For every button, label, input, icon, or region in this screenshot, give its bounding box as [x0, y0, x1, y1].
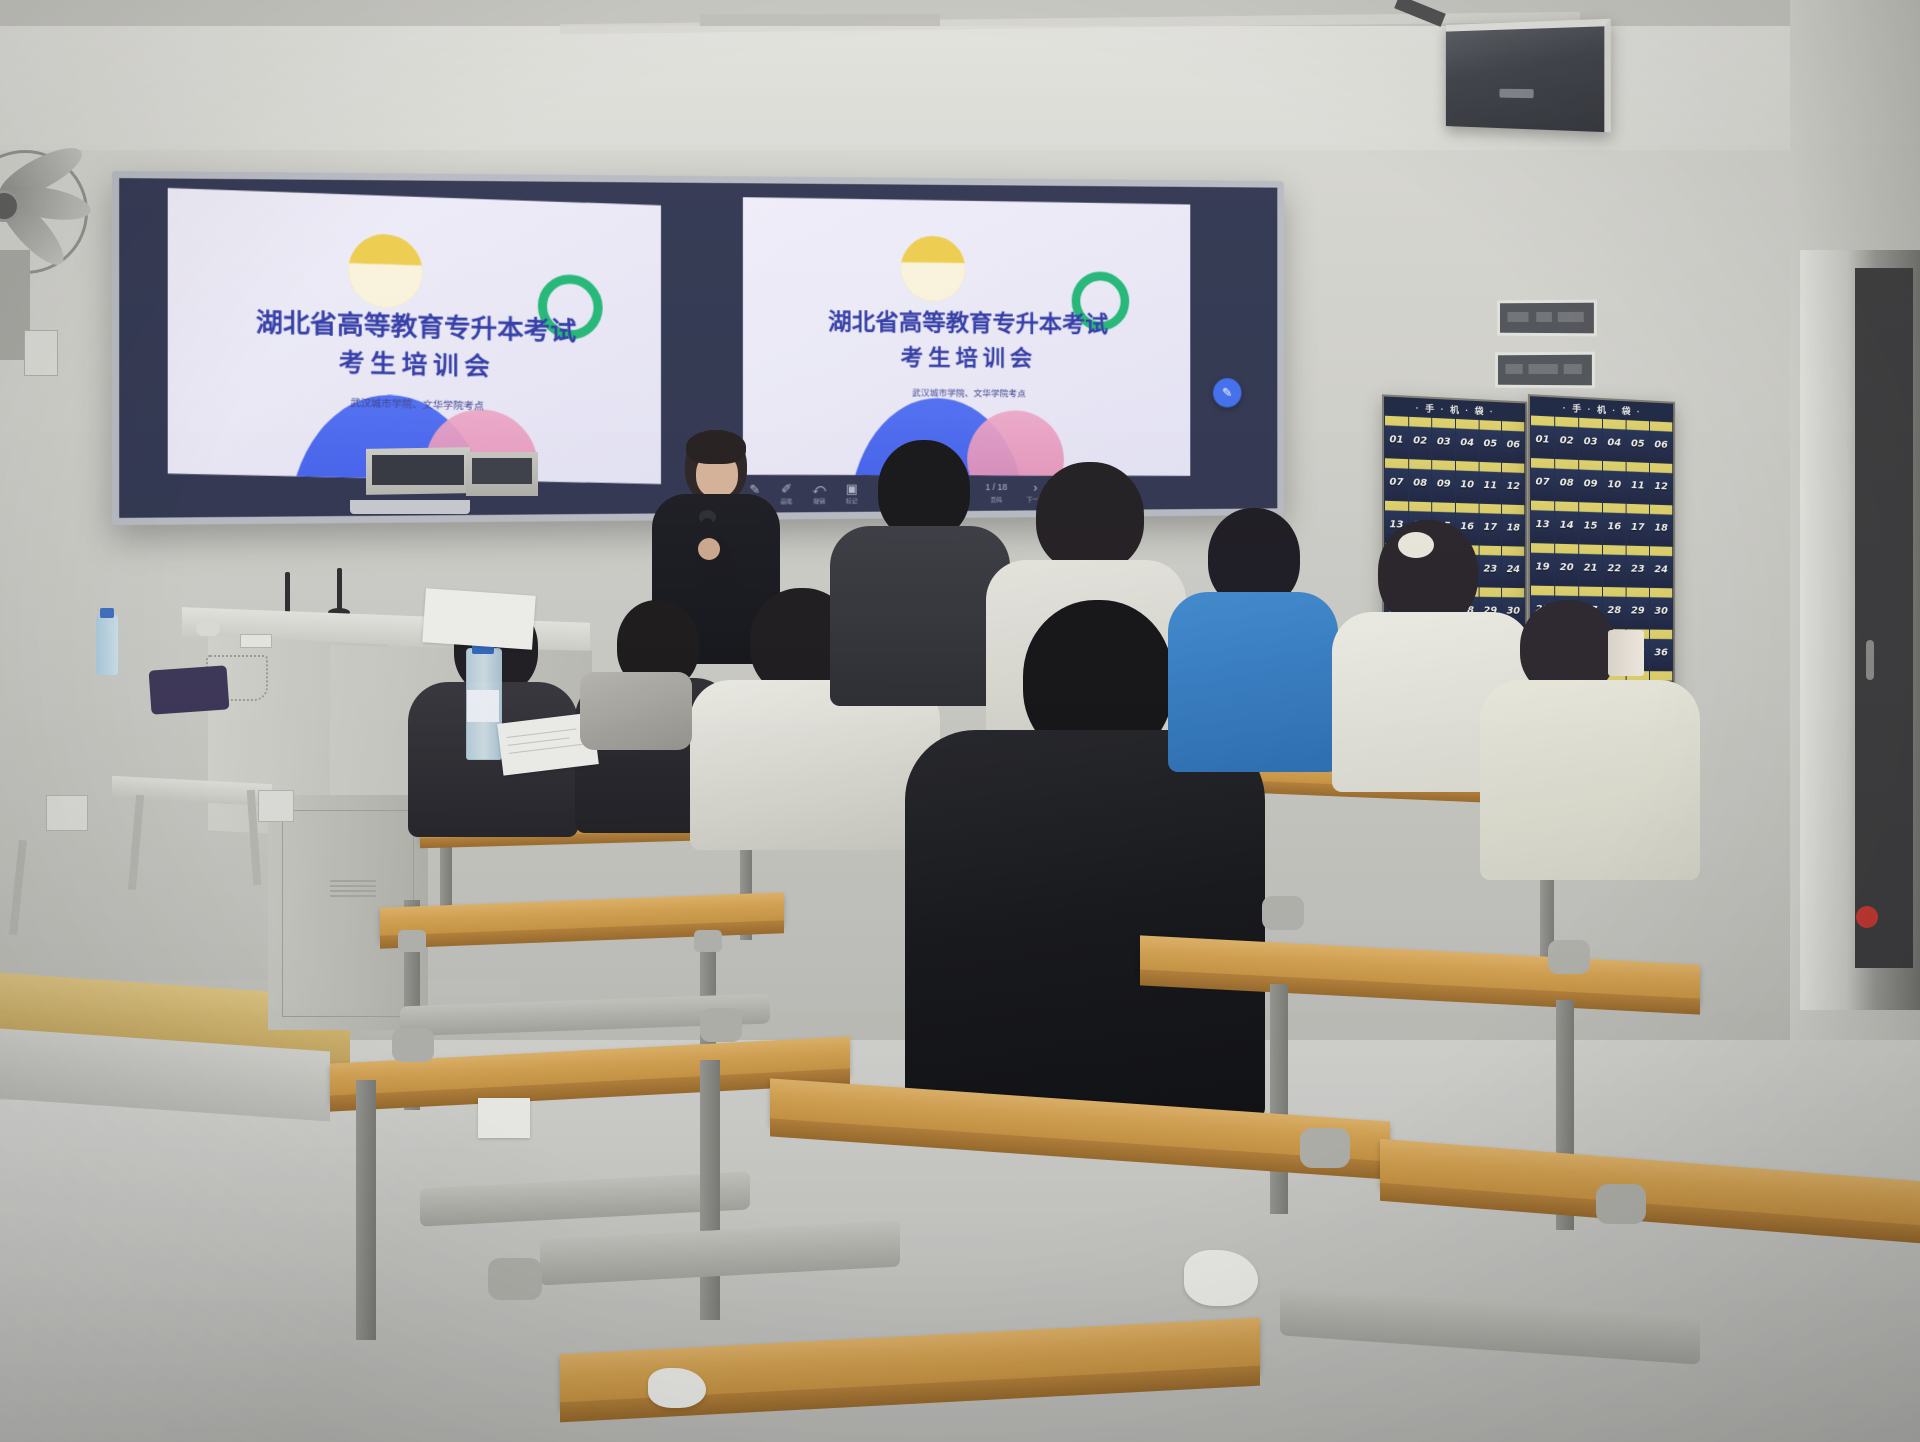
student-body — [1480, 680, 1700, 880]
phone-pocket[interactable]: 09 — [1433, 460, 1455, 502]
phone-pocket[interactable]: 08 — [1555, 459, 1578, 501]
wall-socket-lower-left[interactable] — [46, 795, 88, 831]
phone-pocket[interactable]: 12 — [1650, 463, 1672, 504]
phone-pocket[interactable]: 12 — [1502, 463, 1524, 504]
phone-pocket[interactable]: 09 — [1579, 460, 1602, 502]
slide-sun-shade — [901, 235, 965, 301]
phone-pocket[interactable]: 11 — [1479, 462, 1501, 504]
phone-pocket-number: 20 — [1560, 562, 1574, 573]
phone-pocket[interactable]: 16 — [1603, 503, 1626, 545]
student-body — [905, 730, 1265, 1120]
desk-marker-dot — [1856, 906, 1878, 928]
phone-pocket-number: 21 — [1584, 563, 1598, 574]
phone-pocket[interactable]: 23 — [1627, 546, 1649, 587]
phone-pocket-number: 11 — [1484, 480, 1498, 491]
phone-pocket[interactable]: 22 — [1603, 545, 1626, 586]
cup[interactable] — [1608, 630, 1644, 676]
presenter-hair — [686, 430, 746, 464]
phone-pocket-number: 10 — [1607, 479, 1621, 490]
student-head — [878, 440, 970, 540]
phone-pocket[interactable]: 07 — [1531, 458, 1554, 500]
slide-right-panel: 湖北省高等教育专升本考试 考生培训会 武汉城市学院、文华学院考点 — [743, 197, 1190, 476]
phone-pocket[interactable]: 15 — [1579, 502, 1602, 544]
phone-pocket-number: 05 — [1631, 438, 1645, 450]
phone-pocket-number: 14 — [1560, 520, 1574, 531]
side-door[interactable] — [1855, 268, 1913, 968]
phone-pocket-number: 15 — [1584, 520, 1598, 531]
lectern-vent — [330, 880, 376, 898]
panel-slot — [1564, 364, 1582, 374]
phone-pocket-number: 13 — [1536, 519, 1550, 531]
phone-pocket[interactable]: 02 — [1555, 417, 1578, 459]
slide-sun-shade — [348, 233, 422, 309]
exam-paper-sheet[interactable] — [422, 588, 535, 650]
wall-speaker — [1446, 19, 1611, 133]
phone-pocket[interactable]: 03 — [1579, 418, 1602, 460]
wall-control-panel-upper[interactable] — [1497, 300, 1597, 337]
paper-scrap[interactable] — [478, 1098, 530, 1138]
phone-pocket-number: 05 — [1484, 438, 1498, 450]
phone-pocket-number: 16 — [1607, 521, 1621, 532]
wall-socket-lower-mid[interactable] — [258, 790, 294, 822]
slide-title-line2: 考生培训会 — [743, 337, 1190, 374]
desk-leg-cap — [1300, 1128, 1350, 1168]
speaker-logo — [1499, 89, 1533, 98]
phone-pocket[interactable]: 11 — [1627, 462, 1649, 504]
slide-subtitle: 武汉城市学院、文华学院考点 — [743, 385, 1190, 401]
phone-pocket[interactable]: 18 — [1650, 505, 1672, 546]
tissue[interactable] — [648, 1368, 706, 1408]
phone-pocket[interactable]: 01 — [1385, 416, 1408, 458]
door-handle[interactable] — [1866, 640, 1874, 680]
ceiling-vent-strip — [700, 14, 940, 26]
phone-pocket[interactable]: 21 — [1579, 544, 1602, 586]
annotate-icon[interactable]: ✎ — [1213, 378, 1241, 407]
desk-leg-cap — [694, 930, 722, 952]
phone-pocket[interactable]: 13 — [1531, 501, 1554, 543]
student-head — [1036, 462, 1144, 572]
lectern-label-plate — [240, 634, 272, 648]
phone-pocket-number: 03 — [1584, 436, 1598, 448]
phone-pocket-number: 02 — [1560, 435, 1574, 447]
lectern-monitor-screen[interactable] — [372, 455, 464, 485]
desk-leg-cap — [1548, 940, 1590, 974]
screen-bottom-bezel — [350, 500, 470, 514]
phone-pocket[interactable]: 20 — [1555, 544, 1578, 586]
slide-title-line1: 湖北省高等教育专升本考试 — [743, 301, 1190, 340]
phone-pocket-number: 01 — [1389, 434, 1403, 446]
desk-leg — [1270, 984, 1288, 1214]
presenter-hand — [698, 538, 720, 560]
bag-on-ledge[interactable] — [149, 665, 230, 714]
phone-pocket-number: 03 — [1437, 436, 1451, 448]
phone-pocket[interactable]: 03 — [1433, 418, 1455, 460]
classroom-scene: 湖北省高等教育专升本考试 考生培训会 武汉城市学院、文华学院考点 湖北省高等教育… — [0, 0, 1920, 1442]
lectern-badge — [196, 622, 220, 636]
desk-leg-cap — [398, 930, 426, 952]
phone-pocket-number: 09 — [1584, 478, 1598, 490]
panel-slot — [1558, 312, 1584, 322]
desk-leg-cap — [392, 1028, 434, 1062]
phone-pocket[interactable]: 06 — [1650, 421, 1672, 463]
hair-tie — [1398, 532, 1434, 558]
wall-socket-left-upper[interactable] — [24, 330, 58, 376]
phone-pocket-number: 18 — [1654, 523, 1667, 534]
panel-slot — [1536, 312, 1552, 322]
list-item — [1168, 508, 1338, 758]
phone-pocket-number: 22 — [1607, 563, 1621, 574]
phone-pocket[interactable]: 04 — [1456, 419, 1478, 461]
list-item — [1480, 600, 1700, 880]
phone-pocket[interactable]: 14 — [1555, 501, 1578, 543]
slide-left-panel: 湖北省高等教育专升本考试 考生培训会 武汉城市学院、文华学院考点 — [168, 188, 661, 484]
phone-pocket-number: 24 — [1654, 564, 1667, 575]
phone-pocket-number: 10 — [1460, 479, 1474, 490]
desk-leg — [700, 1060, 720, 1320]
phone-pocket-number: 19 — [1536, 561, 1550, 572]
toolbar-undo-icon[interactable]: ⤺ 撤销 — [812, 482, 826, 505]
wall-control-panel-lower[interactable] — [1495, 352, 1595, 389]
phone-pocket-number: 04 — [1460, 437, 1474, 449]
phone-pocket[interactable]: 10 — [1456, 461, 1478, 503]
phone-pocket-number: 09 — [1437, 478, 1451, 490]
phone-pocket-number: 04 — [1607, 437, 1621, 449]
desk-leg-cap — [700, 1008, 742, 1042]
desk-leg — [356, 1080, 376, 1340]
phone-pocket-number: 17 — [1631, 522, 1645, 533]
phone-pocket-number: 12 — [1654, 481, 1667, 492]
lectern-monitor-secondary-screen[interactable] — [472, 458, 532, 484]
phone-pocket-number: 11 — [1631, 480, 1645, 491]
bottle-cap — [100, 608, 114, 618]
phone-pocket[interactable]: 01 — [1531, 416, 1554, 458]
toolbar-pen-icon[interactable]: ✐ 画笔 — [781, 482, 793, 505]
phone-pocket-number: 12 — [1507, 481, 1520, 492]
phone-pocket[interactable]: 07 — [1385, 458, 1408, 500]
phone-pocket[interactable]: 08 — [1409, 459, 1432, 501]
panel-slot — [1508, 312, 1529, 322]
bottle-label — [467, 690, 499, 722]
phone-pocket-number: 06 — [1507, 439, 1520, 450]
phone-pocket[interactable]: 05 — [1479, 420, 1501, 462]
student-body — [1168, 592, 1338, 772]
backpack[interactable] — [580, 672, 692, 750]
phone-pocket[interactable]: 17 — [1627, 504, 1649, 545]
phone-pocket[interactable]: 06 — [1502, 421, 1524, 463]
phone-pocket[interactable]: 19 — [1531, 543, 1554, 585]
desk-leg-cap — [1262, 896, 1304, 930]
phone-pocket-number: 23 — [1631, 564, 1645, 575]
phone-pocket[interactable]: 02 — [1409, 417, 1432, 459]
phone-pocket-number: 06 — [1654, 439, 1667, 450]
phone-pocket[interactable]: 10 — [1603, 461, 1626, 503]
phone-pocket-number: 07 — [1536, 476, 1550, 488]
phone-pocket[interactable]: 04 — [1603, 419, 1626, 461]
phone-pocket-number: 02 — [1413, 435, 1427, 447]
phone-pocket-number: 08 — [1413, 477, 1427, 489]
water-bottle[interactable] — [96, 615, 118, 675]
desk-leg-cap — [1596, 1184, 1646, 1224]
floor-reflection — [0, 1100, 560, 1442]
phone-pocket[interactable]: 24 — [1650, 546, 1672, 587]
phone-pocket-number: 07 — [1389, 477, 1403, 489]
phone-pocket[interactable]: 05 — [1627, 420, 1649, 462]
phone-pocket-number: 01 — [1536, 434, 1550, 446]
panel-slot — [1528, 364, 1557, 374]
panel-slot — [1506, 364, 1523, 374]
desk-leg-cap — [488, 1258, 542, 1300]
phone-pocket-number: 08 — [1560, 477, 1574, 489]
